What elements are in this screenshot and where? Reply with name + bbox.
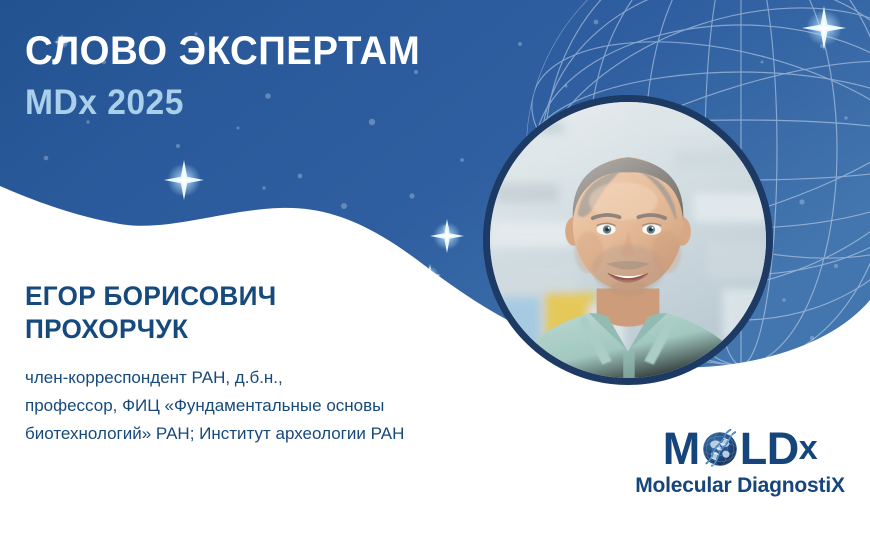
page-subtitle: MDx 2025 [25, 80, 476, 126]
logo-letter-m: M [663, 426, 700, 471]
speaker-credentials-line-2: профессор, ФИЦ «Фундаментальные основы [25, 392, 545, 420]
speaker-credentials-line-3: биотехнологий» РАН; Институт археологии … [25, 420, 545, 448]
speaker-credentials-line-1: член-корреспондент РАН, д.б.н., [25, 364, 545, 392]
speaker-name: ЕГОР БОРИСОВИЧ ПРОХОРЧУК [25, 280, 529, 346]
speaker-name-line-2: ПРОХОРЧУК [25, 313, 529, 346]
logo-letter-l: L [740, 426, 767, 471]
poster-card: СЛОВО ЭКСПЕРТАМ MDx 2025 [0, 0, 870, 540]
logo-letter-d: D [767, 426, 799, 471]
logo-letter-x: x [799, 431, 817, 465]
moldx-logo: M [627, 424, 853, 498]
globe-dna-icon [700, 429, 740, 469]
speaker-credentials: член-корреспондент РАН, д.б.н., профессо… [25, 364, 545, 448]
page-title: СЛОВО ЭКСПЕРТАМ [25, 26, 476, 76]
poster-heading: СЛОВО ЭКСПЕРТАМ MDx 2025 [25, 26, 495, 126]
logo-tagline: Molecular DiagnostiX [627, 474, 853, 498]
moldx-logo-mark: M [627, 424, 853, 472]
speaker-name-line-1: ЕГОР БОРИСОВИЧ [25, 280, 529, 313]
speaker-info: ЕГОР БОРИСОВИЧ ПРОХОРЧУК член-корреспонд… [25, 280, 545, 448]
